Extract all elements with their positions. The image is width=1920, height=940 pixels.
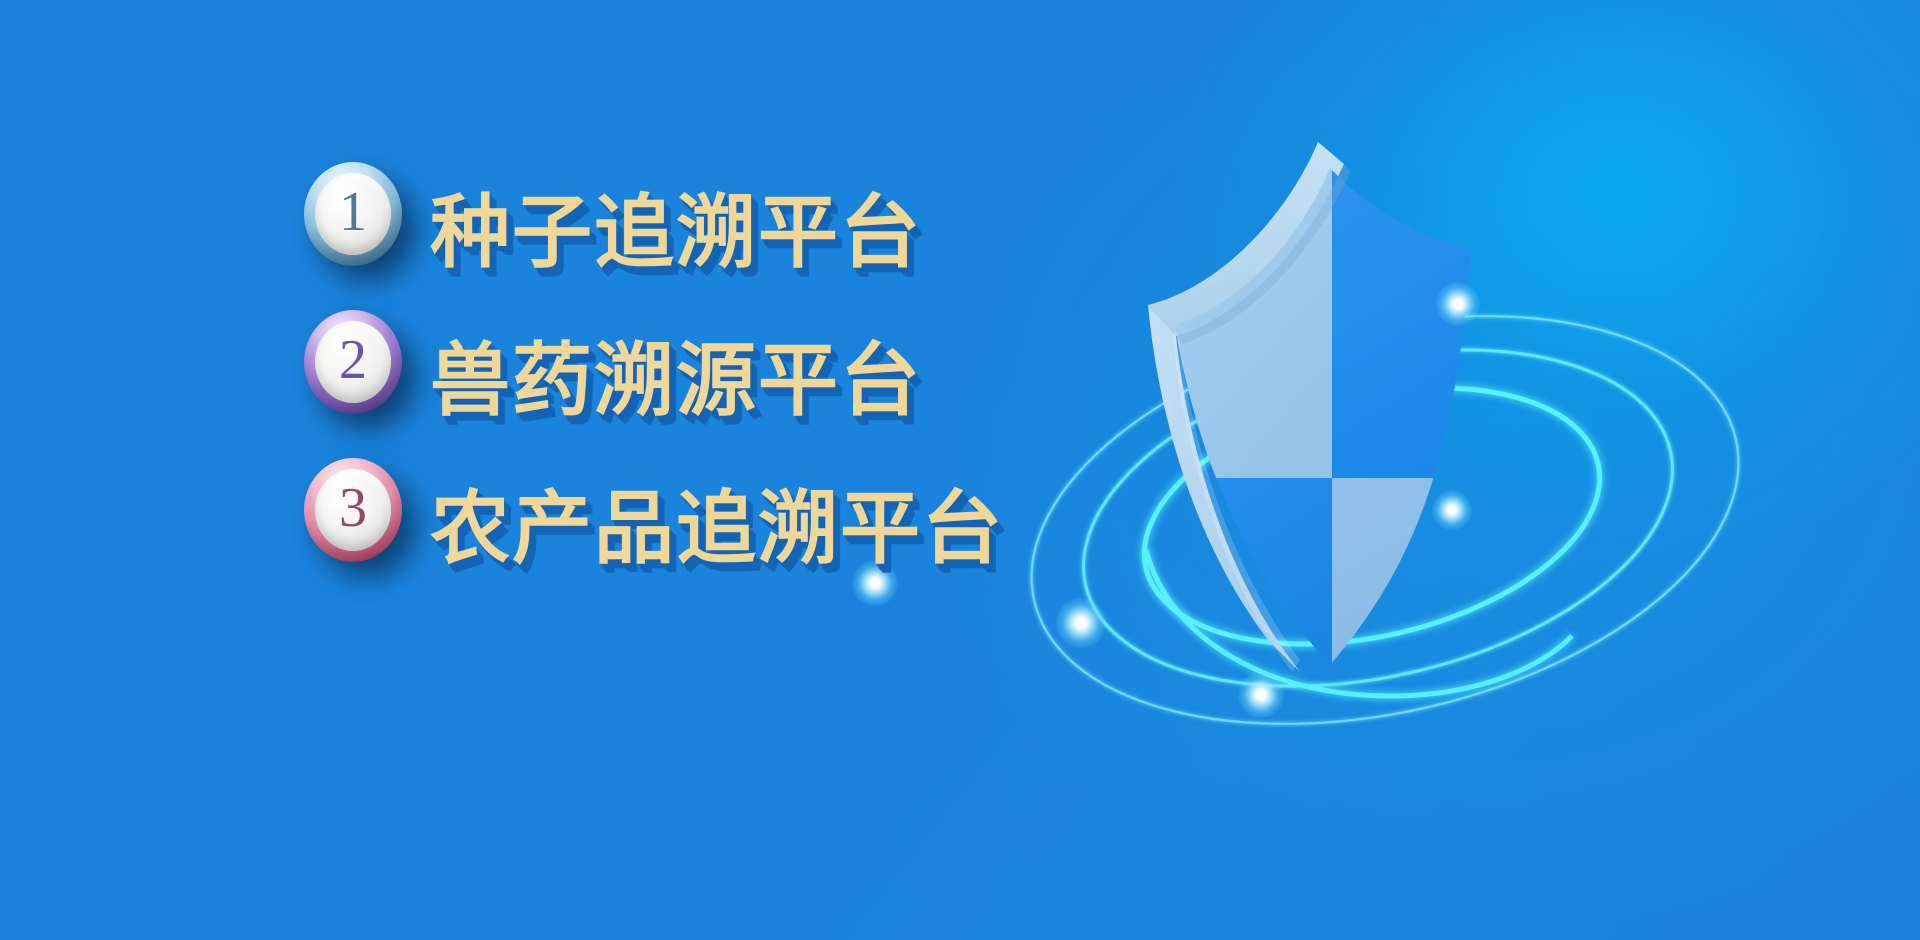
shield-quadrant-bottom-right <box>1332 478 1532 698</box>
banner-canvas: 1 种子追溯平台 2 兽药溯源平台 3 农产品追溯平台 <box>0 0 1920 940</box>
list-item-label: 兽药溯源平台 <box>430 300 922 448</box>
shield-quadrant-top-right <box>1332 160 1532 478</box>
list-item[interactable]: 3 农产品追溯平台 <box>298 448 1058 596</box>
badge-core: 2 <box>315 321 391 403</box>
list-item[interactable]: 1 种子追溯平台 <box>298 152 1058 300</box>
list-item-label: 种子追溯平台 <box>430 152 922 300</box>
circle-badge-icon: 1 <box>304 162 402 266</box>
circle-badge-icon: 3 <box>304 458 402 562</box>
list-item-label: 农产品追溯平台 <box>430 448 1004 596</box>
badge-number: 3 <box>339 480 367 536</box>
badge-core: 1 <box>315 173 391 255</box>
badge-core: 3 <box>315 469 391 551</box>
shield-body <box>1148 142 1532 698</box>
shield-quadrants <box>1170 160 1532 698</box>
platform-list: 1 种子追溯平台 2 兽药溯源平台 3 农产品追溯平台 <box>298 152 1058 596</box>
circle-badge-icon: 2 <box>304 310 402 414</box>
badge-number: 1 <box>339 184 367 240</box>
list-item[interactable]: 2 兽药溯源平台 <box>298 300 1058 448</box>
badge-number: 2 <box>339 332 367 388</box>
shield-artwork <box>1000 120 1920 840</box>
shield-and-orbits-svg <box>1000 120 1920 840</box>
